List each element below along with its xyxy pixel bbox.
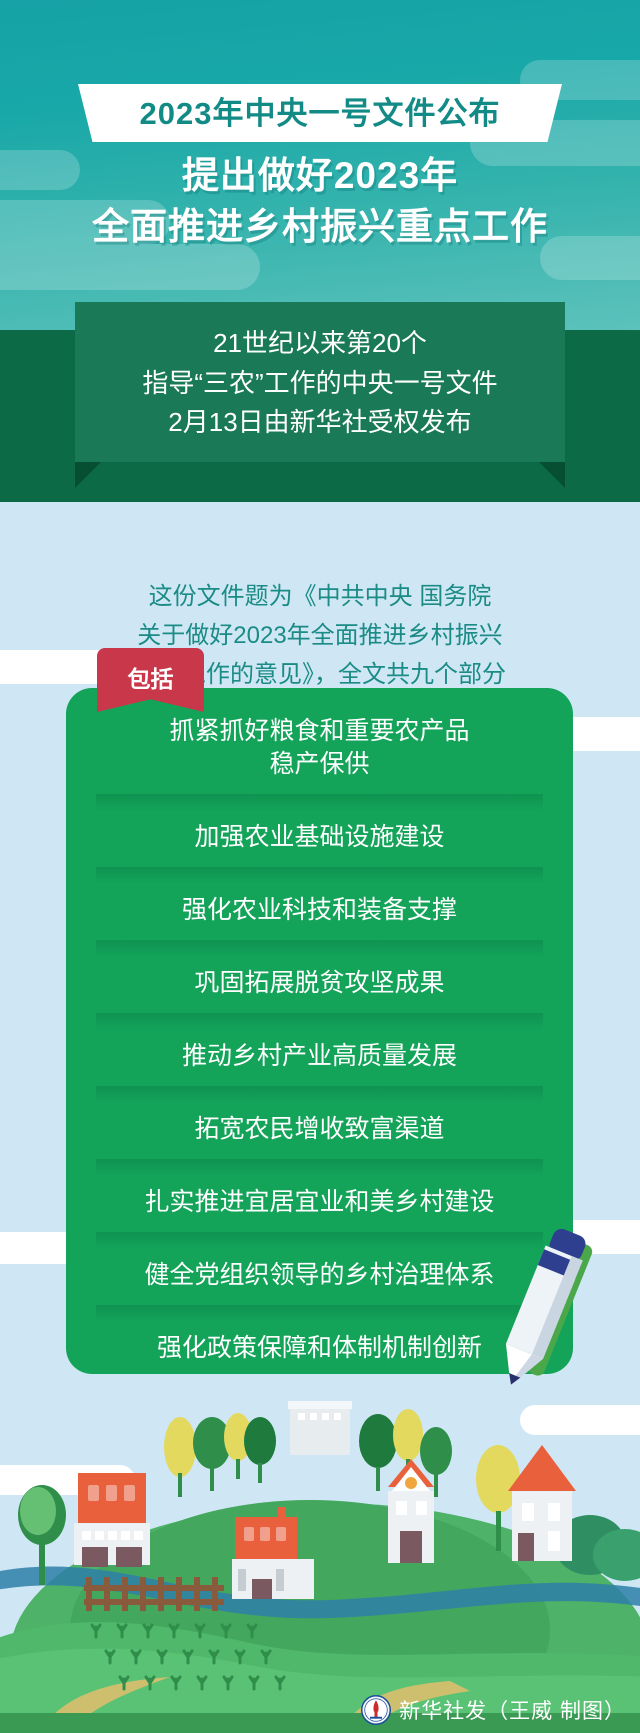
list-divider [96, 1159, 543, 1175]
building-hilltop [288, 1401, 352, 1455]
callout-box: 21世纪以来第20个 指导“三农”工作的中央一号文件 2月13日由新华社受权发布 [75, 302, 565, 462]
list-item-label: 强化农业科技和装备支撑 [182, 896, 457, 924]
intro-paragraph: 这份文件题为《中共中央 国务院 关于做好2023年全面推进乡村振兴 重点工作的意… [0, 578, 640, 695]
list-item: 加强农业基础设施建设 [66, 810, 573, 867]
callout-line-1: 21世纪以来第20个 [75, 324, 565, 364]
list-divider [96, 1086, 543, 1102]
callout-text: 21世纪以来第20个 指导“三农”工作的中央一号文件 2月13日由新华社受权发布 [75, 324, 565, 443]
credit-text: 新华社发（王威 制图） [399, 1695, 626, 1725]
list-divider [96, 867, 543, 883]
page-title-line-2: 全面推进乡村振兴重点工作 [0, 201, 640, 252]
list-item-label-2: 稳产保供 [80, 748, 559, 781]
headline-banner-label: 2023年中央一号文件公布 [140, 98, 501, 129]
house-right [508, 1445, 576, 1561]
village-illustration: 新华社发（王威 制图） [0, 1395, 640, 1733]
list-item-label: 巩固拓展脱贫攻坚成果 [194, 969, 444, 997]
list-divider [96, 1232, 543, 1248]
pen-icon [496, 1222, 606, 1392]
list-item: 推动乡村产业高质量发展 [66, 1029, 573, 1086]
callout-line-2: 指导“三农”工作的中央一号文件 [75, 364, 565, 404]
list-divider [96, 1013, 543, 1029]
list-item: 巩固拓展脱贫攻坚成果 [66, 956, 573, 1013]
ribbon-tail-right [539, 462, 565, 488]
list-item-label: 扎实推进宜居宜业和美乡村建设 [144, 1188, 494, 1216]
ribbon-tail-left [75, 462, 101, 488]
page-title-line-1: 提出做好2023年 [0, 150, 640, 201]
intro-line-2: 关于做好2023年全面推进乡村振兴 [0, 617, 640, 656]
list-item: 拓宽农民增收致富渠道 [66, 1102, 573, 1159]
includes-tag-label: 包括 [128, 660, 174, 694]
list-item-label: 推动乡村产业高质量发展 [182, 1042, 457, 1070]
intro-line-1: 这份文件题为《中共中央 国务院 [0, 578, 640, 617]
list-divider [96, 794, 543, 810]
list-divider [96, 1305, 543, 1321]
list-divider [96, 940, 543, 956]
page-title: 提出做好2023年 全面推进乡村振兴重点工作 [0, 150, 640, 252]
house-center [388, 1459, 434, 1563]
credit-line: 新华社发（王威 制图） [0, 1695, 640, 1725]
list-item-label: 强化政策保障和体制机制创新 [157, 1334, 482, 1362]
xinhua-logo-icon [361, 1695, 391, 1725]
list-item-label: 加强农业基础设施建设 [194, 823, 444, 851]
list-item-label: 拓宽农民增收致富渠道 [194, 1115, 444, 1143]
house-left [74, 1473, 150, 1567]
list-item: 强化农业科技和装备支撑 [66, 883, 573, 940]
callout-line-3: 2月13日由新华社受权发布 [75, 403, 565, 443]
list-item: 抓紧抓好粮食和重要农产品 稳产保供 [66, 704, 573, 794]
list-item-label: 健全党组织领导的乡村治理体系 [144, 1261, 494, 1289]
list-item-label: 抓紧抓好粮食和重要农产品 [169, 717, 469, 745]
village-scene-svg [0, 1395, 640, 1733]
infographic-page: 2023年中央一号文件公布 提出做好2023年 全面推进乡村振兴重点工作 21世… [0, 0, 640, 1733]
headline-banner: 2023年中央一号文件公布 [78, 84, 562, 142]
